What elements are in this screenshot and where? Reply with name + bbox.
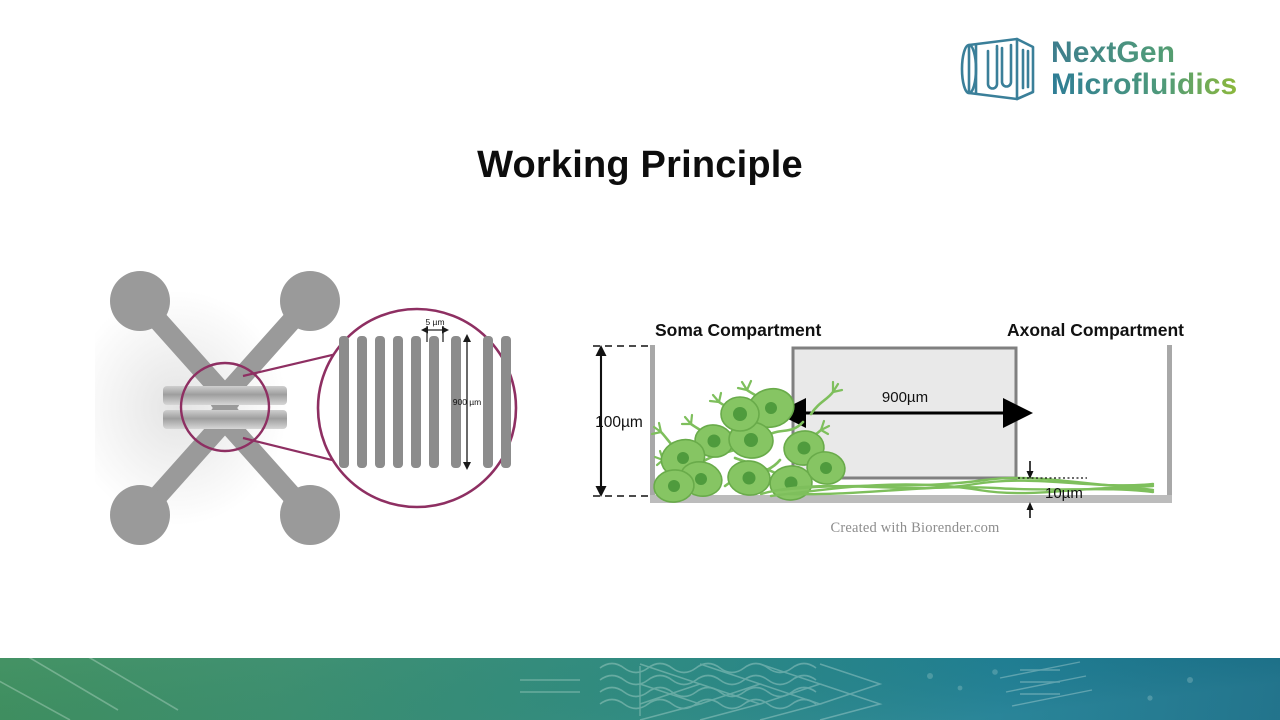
chip-inset-magnifier: 5 µm 900 µm bbox=[318, 309, 516, 507]
brand-logo: NextGen Microfluidics bbox=[955, 28, 1245, 110]
brand-line-2: Microfluidics bbox=[1051, 69, 1237, 101]
microfluidic-chip-diagram: 5 µm 900 µm bbox=[95, 268, 545, 548]
chamber-height-label: 100µm bbox=[595, 414, 643, 431]
reservoir-bottom-left bbox=[110, 485, 170, 545]
microfluidic-scroll-logo-icon bbox=[955, 34, 1037, 104]
footer-shade bbox=[0, 658, 1280, 720]
inset-length-label: 900 µm bbox=[453, 397, 482, 407]
biorender-credit: Created with Biorender.com bbox=[575, 520, 1255, 537]
brand-line-1: NextGen bbox=[1051, 37, 1237, 69]
reservoir-bottom-right bbox=[280, 485, 340, 545]
reservoir-top-left bbox=[110, 271, 170, 331]
page-title: Working Principle bbox=[0, 144, 1280, 187]
footer-pattern bbox=[0, 658, 1280, 720]
soma-axon-compartment-schematic: Soma Compartment Axonal Compartment bbox=[575, 318, 1255, 548]
decorative-footer-band bbox=[0, 658, 1280, 720]
reservoir-top-right bbox=[280, 271, 340, 331]
brand-wordmark: NextGen Microfluidics bbox=[1051, 37, 1237, 101]
barrier-width-label: 900µm bbox=[882, 389, 928, 406]
groove-height-label: 10µm bbox=[1045, 485, 1083, 502]
inset-width-label: 5 µm bbox=[425, 317, 444, 327]
